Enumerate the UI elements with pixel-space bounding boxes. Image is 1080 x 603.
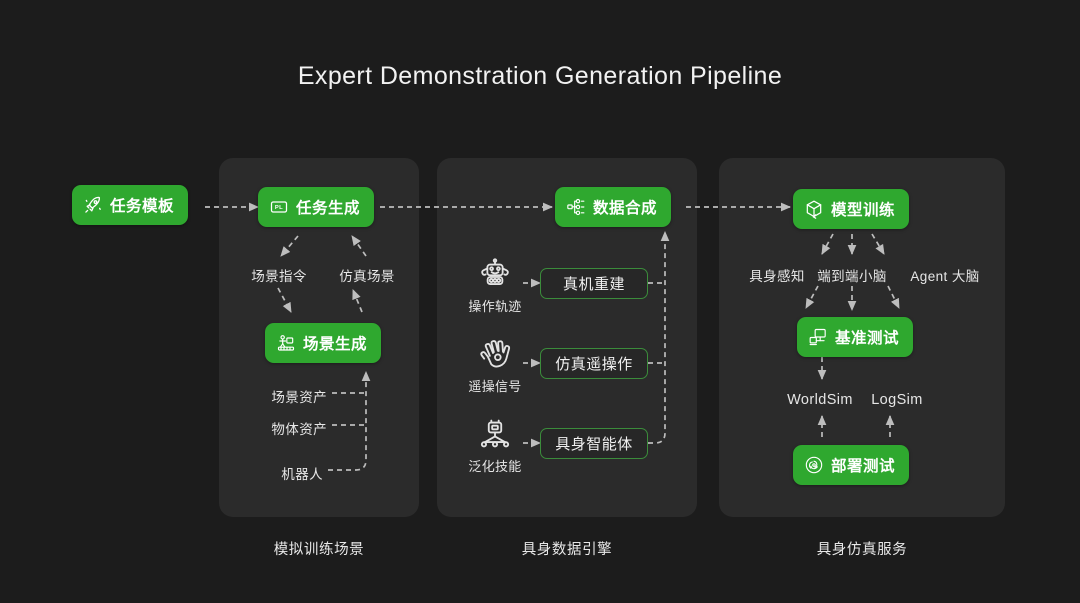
label-end-to-end-cerebellum: 端到端小脑 — [817, 265, 887, 285]
label-scene-asset: 场景资产 — [271, 386, 327, 406]
robot-icon — [478, 258, 512, 292]
pill-model-training[interactable]: 模型训练 — [793, 189, 909, 229]
box-embodied-agent[interactable]: 具身智能体 — [540, 428, 648, 459]
source-label: 遥操信号 — [463, 376, 527, 395]
pill-task-template[interactable]: 任务模板 — [72, 185, 188, 225]
label-robot: 机器人 — [281, 463, 323, 483]
label-worldsim: WorldSim — [787, 392, 853, 408]
rocket-icon — [83, 195, 103, 215]
pill-data-synthesis[interactable]: 数据合成 — [555, 187, 671, 227]
glove-icon — [478, 338, 512, 372]
box-simulated-teleoperation[interactable]: 仿真遥操作 — [540, 348, 648, 379]
diagram-canvas: Expert Demonstration Generation Pipeline — [0, 0, 1080, 603]
benchmark-icon — [808, 327, 828, 347]
pill-label: 基准测试 — [835, 326, 899, 348]
pill-label: 任务生成 — [296, 196, 360, 218]
pill-label: 场景生成 — [303, 332, 367, 354]
source-operation-trajectory: 操作轨迹 — [463, 258, 527, 315]
pill-label: 部署测试 — [831, 454, 895, 476]
chip-icon — [478, 418, 512, 452]
label-agent-brain: Agent 大脑 — [910, 265, 979, 285]
pill-task-generation[interactable]: PL 任务生成 — [258, 187, 374, 227]
label-object-asset: 物体资产 — [271, 418, 327, 438]
data-synthesis-icon — [566, 197, 586, 217]
pill-label: 任务模板 — [110, 194, 174, 216]
pill-scene-generation[interactable]: 场景生成 — [265, 323, 381, 363]
caption-panel-1: 模拟训练场景 — [219, 538, 419, 559]
source-label: 操作轨迹 — [463, 296, 527, 315]
label-embodied-perception: 具身感知 — [749, 265, 805, 285]
label-scene-instruction: 场景指令 — [251, 265, 307, 285]
pill-deployment-test[interactable]: 部署测试 — [793, 445, 909, 485]
caption-panel-3: 具身仿真服务 — [719, 538, 1005, 559]
pill-benchmark-test[interactable]: 基准测试 — [797, 317, 913, 357]
svg-text:PL: PL — [275, 205, 283, 211]
box-real-machine-reconstruction[interactable]: 真机重建 — [540, 268, 648, 299]
source-teleop-signal: 遥操信号 — [463, 338, 527, 395]
source-label: 泛化技能 — [463, 456, 527, 475]
label-logsim: LogSim — [871, 392, 923, 408]
cube-training-icon — [804, 199, 824, 219]
scene-generation-icon — [276, 333, 296, 353]
pill-label: 模型训练 — [831, 198, 895, 220]
prompt-icon: PL — [269, 197, 289, 217]
caption-panel-2: 具身数据引擎 — [437, 538, 697, 559]
source-generalization-skill: 泛化技能 — [463, 418, 527, 475]
pill-label: 数据合成 — [593, 196, 657, 218]
label-simulation-scene: 仿真场景 — [339, 265, 395, 285]
deploy-icon — [804, 455, 824, 475]
page-title: Expert Demonstration Generation Pipeline — [0, 62, 1080, 91]
